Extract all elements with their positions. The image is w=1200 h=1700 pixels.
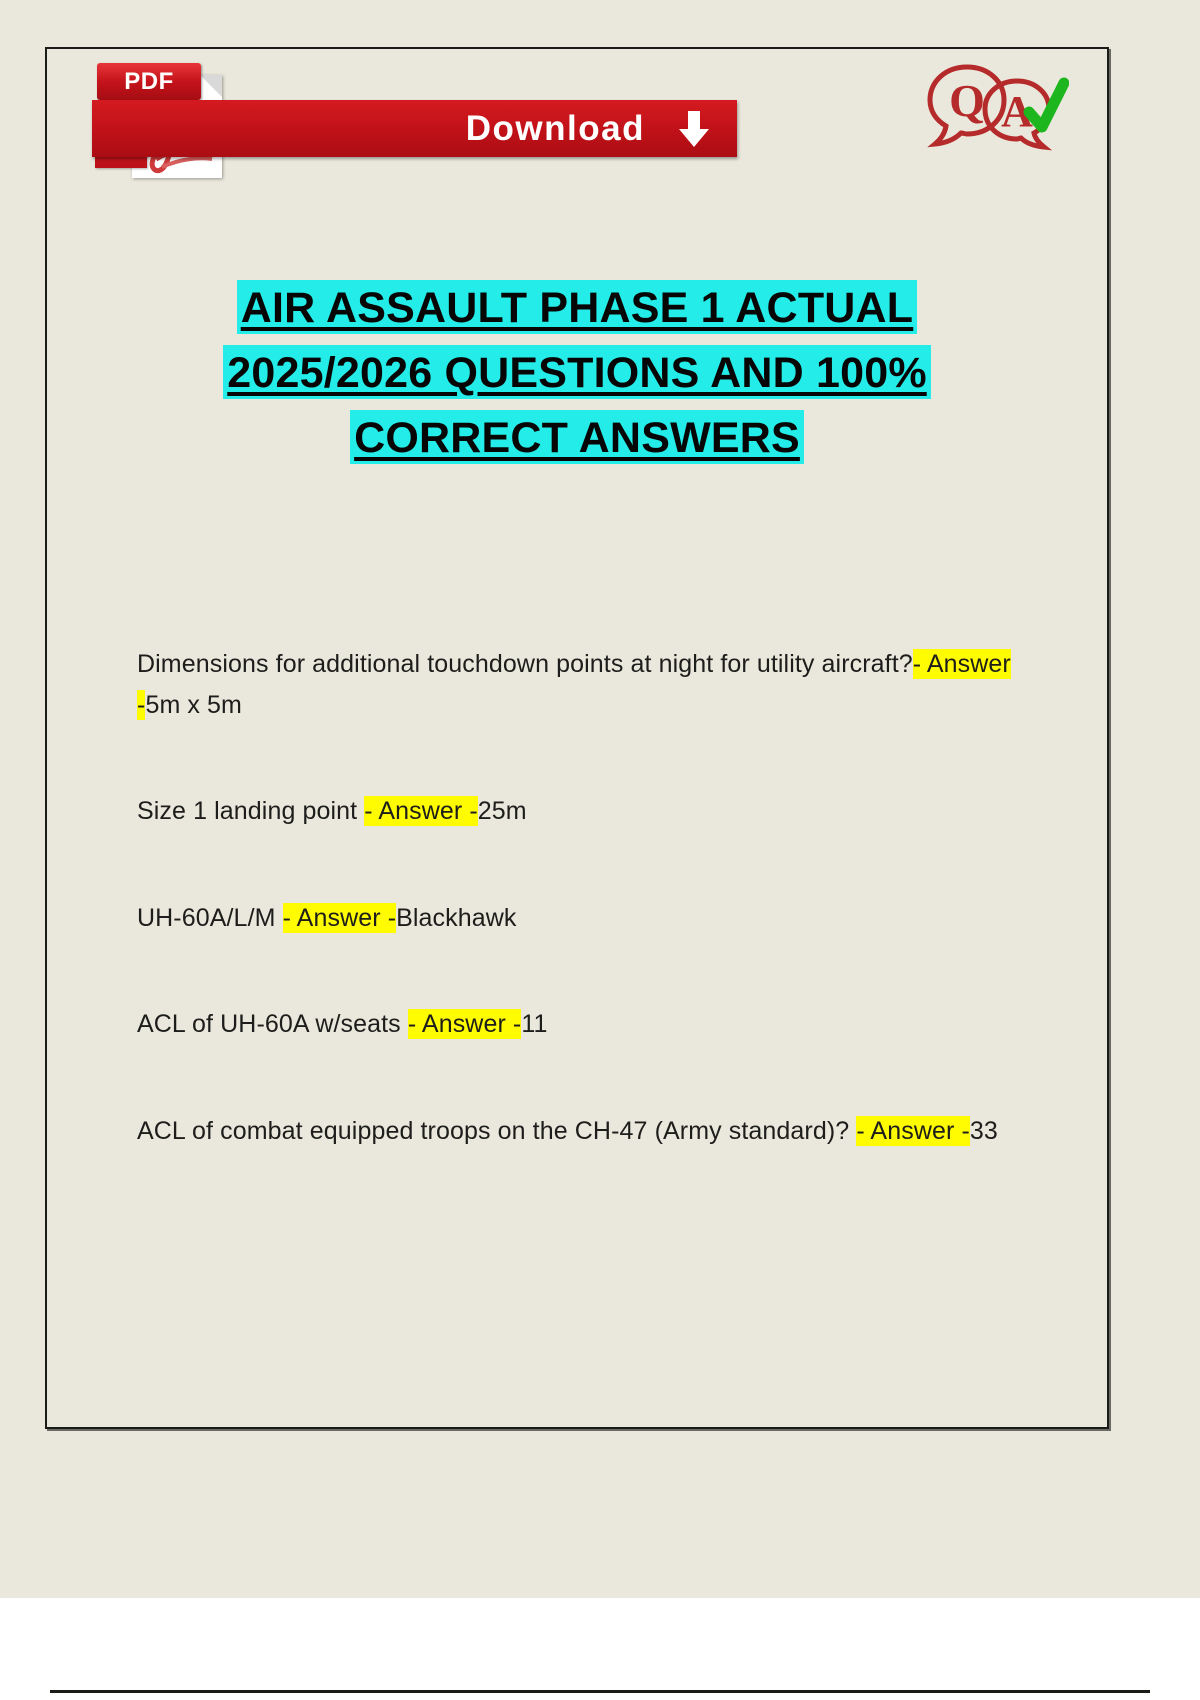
qa-question: Size 1 landing point bbox=[137, 797, 364, 825]
qa-item: Size 1 landing point - Answer -25m bbox=[137, 791, 1027, 832]
qa-answer: 33 bbox=[970, 1117, 998, 1145]
qa-answer: 11 bbox=[521, 1010, 547, 1038]
title-line-3: CORRECT ANSWERS bbox=[47, 417, 1107, 460]
download-button-label: Download bbox=[466, 109, 645, 149]
pdf-badge-label: PDF bbox=[97, 63, 201, 100]
download-arrow-icon bbox=[677, 110, 711, 148]
qa-answer-marker: - Answer - bbox=[408, 1009, 522, 1039]
svg-text:Q: Q bbox=[949, 75, 985, 126]
next-page-top-border bbox=[50, 1690, 1150, 1693]
qa-answer-marker: - Answer - bbox=[856, 1116, 970, 1146]
title-line-1: AIR ASSAULT PHASE 1 ACTUAL bbox=[47, 287, 1107, 330]
qa-check-logo: Q A bbox=[921, 59, 1069, 159]
qa-item: ACL of combat equipped troops on the CH-… bbox=[137, 1111, 1027, 1152]
page-gap bbox=[0, 1598, 1200, 1700]
qa-answer: 5m x 5m bbox=[145, 691, 242, 719]
qa-answer-marker: - Answer - bbox=[283, 903, 397, 933]
title-line-2: 2025/2026 QUESTIONS AND 100% bbox=[47, 352, 1107, 395]
download-button[interactable]: Download bbox=[92, 100, 737, 157]
qa-question: ACL of combat equipped troops on the CH-… bbox=[137, 1117, 856, 1145]
qa-item: Dimensions for additional touchdown poin… bbox=[137, 644, 1027, 725]
title-line-1-text: AIR ASSAULT PHASE 1 ACTUAL bbox=[237, 280, 918, 334]
header-row: PDF Download Q A bbox=[47, 49, 1107, 199]
pdf-page-sheet: PDF Download Q A AIR ASSAULT PHASE 1 bbox=[45, 47, 1109, 1429]
pdf-page-fold bbox=[200, 75, 222, 97]
qa-question: ACL of UH-60A w/seats bbox=[137, 1010, 408, 1038]
qa-question: Dimensions for additional touchdown poin… bbox=[137, 650, 913, 678]
title-line-2-text: 2025/2026 QUESTIONS AND 100% bbox=[223, 345, 931, 399]
document-canvas: PDF Download Q A AIR ASSAULT PHASE 1 bbox=[0, 0, 1200, 1598]
qa-question: UH-60A/L/M bbox=[137, 904, 283, 932]
qa-answer: Blackhawk bbox=[396, 904, 516, 932]
page-title: AIR ASSAULT PHASE 1 ACTUAL 2025/2026 QUE… bbox=[47, 287, 1107, 460]
qa-item: UH-60A/L/M - Answer -Blackhawk bbox=[137, 898, 1027, 939]
qa-answer: 25m bbox=[478, 797, 527, 825]
qa-list: Dimensions for additional touchdown poin… bbox=[137, 619, 1027, 1151]
qa-answer-marker: - Answer - bbox=[364, 796, 478, 826]
title-line-3-text: CORRECT ANSWERS bbox=[350, 410, 804, 464]
qa-item: ACL of UH-60A w/seats - Answer -11 bbox=[137, 1004, 1027, 1045]
